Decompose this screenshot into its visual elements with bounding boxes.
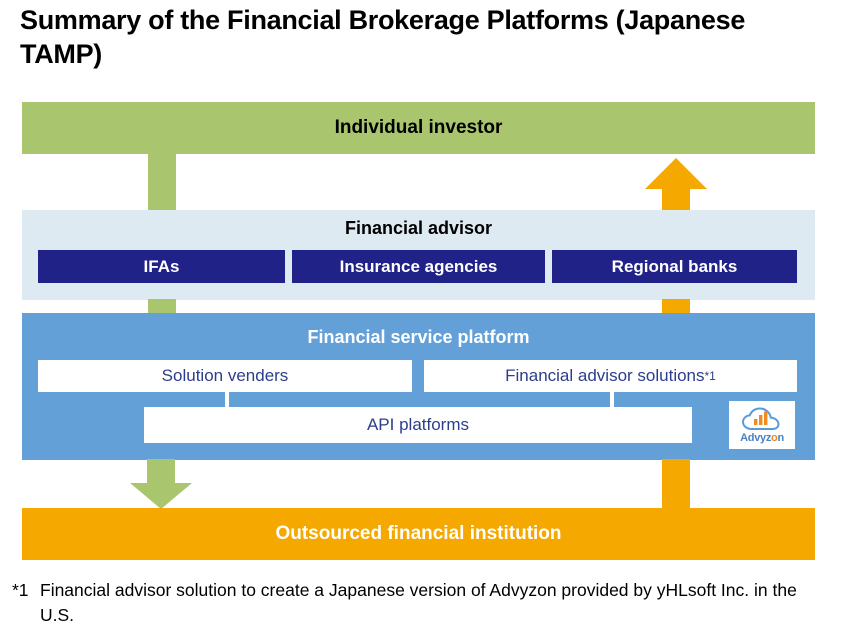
financial-advisor-title: Financial advisor <box>22 218 815 239</box>
connector-platform-to-outsourced <box>662 459 690 509</box>
cloud-chart-icon <box>742 407 782 431</box>
advyzon-wordmark-part1: Advyz <box>740 432 771 444</box>
platform-box-financial-advisor-solutions-label: Financial advisor solutions <box>505 366 704 386</box>
outsourced-financial-institution-label: Outsourced financial institution <box>275 523 561 545</box>
connector-solution-venders-to-api <box>225 392 229 408</box>
connector-fa-solutions-to-api <box>610 392 614 408</box>
footnote: *1 Financial advisor solution to create … <box>12 578 832 629</box>
advyzon-wordmark-part2: n <box>777 432 783 444</box>
financial-service-platform-title: Financial service platform <box>22 327 815 348</box>
advisor-box-insurance-agencies[interactable]: Insurance agencies <box>292 250 545 283</box>
connector-advisor-to-platform-green <box>148 299 176 314</box>
footnote-text: Financial advisor solution to create a J… <box>12 578 832 629</box>
platform-box-api-platforms-label: API platforms <box>367 415 469 435</box>
advyzon-wordmark: Advyzon <box>740 432 784 444</box>
individual-investor-label: Individual investor <box>335 117 503 139</box>
advisor-box-ifas[interactable]: IFAs <box>38 250 285 283</box>
arrow-up-icon <box>645 158 707 217</box>
advisor-box-regional-banks-label: Regional banks <box>612 257 738 277</box>
platform-box-solution-venders-label: Solution venders <box>162 366 289 386</box>
footnote-marker: *1 <box>12 578 29 603</box>
advisor-box-ifas-label: IFAs <box>144 257 180 277</box>
outsourced-financial-institution-band: Outsourced financial institution <box>22 508 815 560</box>
page-title: Summary of the Financial Brokerage Platf… <box>20 4 810 72</box>
individual-investor-band: Individual investor <box>22 102 815 154</box>
platform-box-api-platforms[interactable]: API platforms <box>144 407 692 443</box>
connector-advisor-to-platform-orange <box>662 299 690 314</box>
platform-box-financial-advisor-solutions[interactable]: Financial advisor solutions*1 <box>424 360 797 392</box>
advyzon-logo: Advyzon <box>729 401 795 449</box>
footnote-superscript-marker: *1 <box>705 369 716 383</box>
platform-box-solution-venders[interactable]: Solution venders <box>38 360 412 392</box>
arrow-down-icon <box>130 459 192 514</box>
advisor-box-regional-banks[interactable]: Regional banks <box>552 250 797 283</box>
advisor-box-insurance-agencies-label: Insurance agencies <box>340 257 498 277</box>
connector-investor-to-advisor <box>148 154 176 211</box>
